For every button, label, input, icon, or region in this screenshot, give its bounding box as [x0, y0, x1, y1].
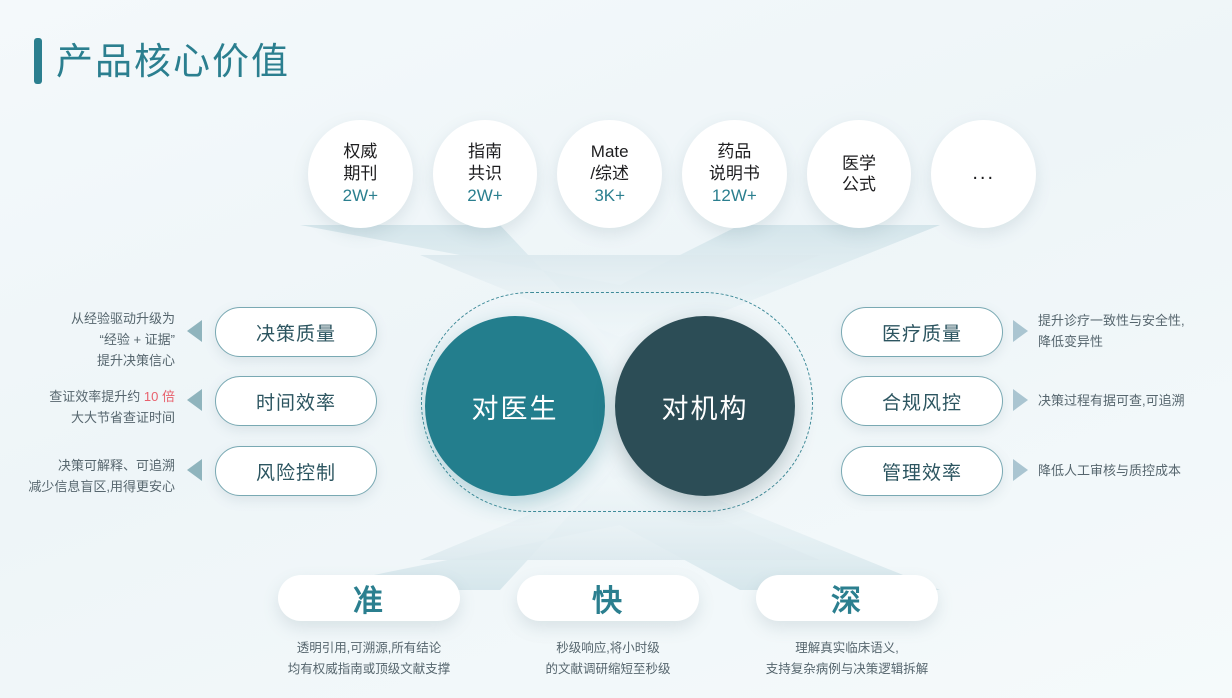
bottom-desc-line: 的文献调研缩短至秒级	[493, 659, 723, 680]
right-desc-compliance-risk: 决策过程有据可查,可追溯	[1038, 390, 1223, 411]
bottom-desc-fast: 秒级响应,将小时级 的文献调研缩短至秒级	[493, 638, 723, 680]
source-line1: 医学	[842, 153, 876, 174]
page-title: 产品核心价值	[34, 38, 290, 84]
core-label-institution: 对机构	[662, 387, 749, 426]
arrow-right-icon	[1013, 389, 1028, 411]
source-line1: Mate	[591, 141, 629, 162]
core-circle-doctor[interactable]: 对医生	[425, 316, 605, 496]
left-desc-time-efficiency: 查证效率提升约 10 倍 大大节省查证时间	[0, 386, 175, 428]
bottom-desc-line: 支持复杂病例与决策逻辑拆解	[732, 659, 962, 680]
core-label-doctor: 对医生	[472, 387, 559, 426]
source-line2: 说明书	[709, 163, 760, 184]
left-desc-line: 决策可解释、可追溯	[0, 455, 175, 476]
right-desc-management-efficiency: 降低人工审核与质控成本	[1038, 460, 1223, 481]
left-desc-line: 从经验驱动升级为	[0, 308, 175, 329]
left-pill-decision-quality[interactable]: 决策质量	[215, 307, 377, 357]
bottom-desc-line: 理解真实临床语义,	[732, 638, 962, 659]
arrow-left-icon	[187, 320, 202, 342]
source-line1: 权威	[343, 141, 377, 162]
title-accent-bar	[34, 38, 42, 84]
bottom-card-title: 深	[831, 576, 863, 620]
core-circle-institution[interactable]: 对机构	[615, 316, 795, 496]
arrow-right-icon	[1013, 320, 1028, 342]
right-pill-medical-quality[interactable]: 医疗质量	[841, 307, 1003, 357]
left-desc-risk-control: 决策可解释、可追溯 减少信息盲区,用得更安心	[0, 455, 175, 497]
left-desc-line: 查证效率提升约 10 倍	[0, 386, 175, 407]
left-desc-line: 减少信息盲区,用得更安心	[0, 476, 175, 497]
bottom-card-accurate[interactable]: 准	[278, 575, 460, 621]
left-pill-risk-control[interactable]: 风险控制	[215, 446, 377, 496]
title-text: 产品核心价值	[56, 43, 290, 80]
source-count: 3K+	[594, 185, 625, 206]
bottom-desc-line: 均有权威指南或顶级文献支撑	[254, 659, 484, 680]
bottom-card-title: 快	[592, 576, 624, 620]
bottom-desc-accurate: 透明引用,可溯源,所有结论 均有权威指南或顶级文献支撑	[254, 638, 484, 680]
source-line2: 共识	[468, 163, 502, 184]
bottom-card-fast[interactable]: 快	[517, 575, 699, 621]
left-desc-prefix: 查证效率提升约	[49, 389, 144, 404]
left-desc-decision-quality: 从经验驱动升级为 “经验 + 证据” 提升决策信心	[0, 308, 175, 371]
source-circle[interactable]: 药品 说明书 12W+	[682, 120, 787, 228]
source-circle-more[interactable]: ...	[931, 120, 1036, 228]
source-count: 12W+	[712, 185, 757, 206]
source-line2: /综述	[590, 163, 629, 184]
left-desc-highlight: 10 倍	[144, 389, 175, 404]
right-desc-line: 决策过程有据可查,可追溯	[1038, 390, 1223, 411]
right-desc-medical-quality: 提升诊疗一致性与安全性, 降低变异性	[1038, 310, 1223, 352]
bottom-desc-line: 秒级响应,将小时级	[493, 638, 723, 659]
right-desc-line: 降低人工审核与质控成本	[1038, 460, 1223, 481]
source-circle[interactable]: 权威 期刊 2W+	[308, 120, 413, 228]
right-desc-line: 降低变异性	[1038, 331, 1223, 352]
left-desc-line: “经验 + 证据”	[0, 329, 175, 350]
source-line1: 药品	[717, 141, 751, 162]
bottom-desc-deep: 理解真实临床语义, 支持复杂病例与决策逻辑拆解	[732, 638, 962, 680]
right-pill-compliance-risk[interactable]: 合规风控	[841, 376, 1003, 426]
source-circle[interactable]: 指南 共识 2W+	[433, 120, 538, 228]
left-desc-line: 提升决策信心	[0, 350, 175, 371]
arrow-right-icon	[1013, 459, 1028, 481]
source-circle[interactable]: 医学 公式	[807, 120, 912, 228]
right-desc-line: 提升诊疗一致性与安全性,	[1038, 310, 1223, 331]
source-line1: 指南	[468, 141, 502, 162]
source-circle[interactable]: Mate /综述 3K+	[557, 120, 662, 228]
source-circle-row: 权威 期刊 2W+ 指南 共识 2W+ Mate /综述 3K+ 药品 说明书 …	[308, 120, 1036, 230]
source-line2: 期刊	[343, 163, 377, 184]
slide-canvas: 产品核心价值 权威 期刊 2W+ 指南 共识 2W+ Mate /综述 3K+ …	[0, 0, 1232, 698]
bottom-card-deep[interactable]: 深	[756, 575, 938, 621]
source-count: 2W+	[343, 185, 378, 206]
left-pill-time-efficiency[interactable]: 时间效率	[215, 376, 377, 426]
source-line2: 公式	[842, 174, 876, 195]
arrow-left-icon	[187, 389, 202, 411]
ellipsis-icon: ...	[972, 161, 995, 186]
left-desc-line: 大大节省查证时间	[0, 407, 175, 428]
right-pill-management-efficiency[interactable]: 管理效率	[841, 446, 1003, 496]
source-count: 2W+	[467, 185, 502, 206]
bottom-card-title: 准	[353, 576, 385, 620]
arrow-left-icon	[187, 459, 202, 481]
bottom-desc-line: 透明引用,可溯源,所有结论	[254, 638, 484, 659]
